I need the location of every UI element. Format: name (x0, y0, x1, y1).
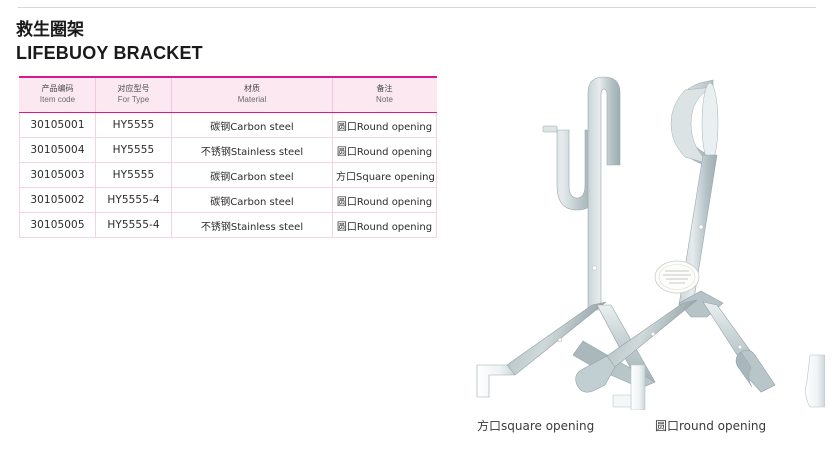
cell-note: 方口Square opening (333, 163, 437, 188)
cell-note: 圆口Round opening (333, 188, 437, 213)
cell-item-code: 30105001 (20, 113, 96, 138)
lifebuoy-bracket-illustration (455, 55, 825, 410)
table-row: 30105005 HY5555-4 不锈钢Stainless steel 圆口R… (20, 213, 437, 238)
table-header: 产品编码 Item code 对应型号 For Type 材质 Material… (20, 77, 437, 113)
cell-item-code: 30105004 (20, 138, 96, 163)
cell-material: 不锈钢Stainless steel (172, 213, 333, 238)
cell-note: 圆口Round opening (333, 113, 437, 138)
column-header-material: 材质 Material (172, 77, 333, 113)
cell-material: 碳钢Carbon steel (172, 163, 333, 188)
column-header-item-code-cn: 产品编码 (22, 84, 93, 94)
table-header-row: 产品编码 Item code 对应型号 For Type 材质 Material… (20, 77, 437, 113)
table-row: 30105004 HY5555 不锈钢Stainless steel 圆口Rou… (20, 138, 437, 163)
column-header-note-cn: 备注 (335, 84, 434, 94)
column-header-note: 备注 Note (333, 77, 437, 113)
cell-for-type: HY5555-4 (96, 213, 172, 238)
caption-round-opening: 圆口round opening (655, 417, 766, 434)
cell-for-type: HY5555 (96, 138, 172, 163)
top-divider (18, 7, 816, 8)
specification-table: 产品编码 Item code 对应型号 For Type 材质 Material… (19, 76, 437, 238)
square-opening-spine (588, 77, 620, 310)
cell-material: 不锈钢Stainless steel (172, 138, 333, 163)
cell-item-code: 30105005 (20, 213, 96, 238)
column-header-item-code: 产品编码 Item code (20, 77, 96, 113)
caption-square-opening: 方口square opening (477, 417, 594, 434)
page-title-english: LIFEBUOY BRACKET (16, 42, 416, 64)
product-label-sticker (655, 261, 699, 293)
cell-for-type: HY5555 (96, 113, 172, 138)
page-title: 救生圈架 LIFEBUOY BRACKET (16, 20, 416, 64)
column-header-material-cn: 材质 (174, 84, 330, 94)
round-opening-catch (806, 355, 825, 407)
cell-note: 圆口Round opening (333, 213, 437, 238)
cell-item-code: 30105003 (20, 163, 96, 188)
cell-material: 碳钢Carbon steel (172, 113, 333, 138)
table-row: 30105003 HY5555 碳钢Carbon steel 方口Square … (20, 163, 437, 188)
cell-for-type: HY5555 (96, 163, 172, 188)
column-header-material-en: Material (174, 94, 330, 105)
cell-note: 圆口Round opening (333, 138, 437, 163)
cell-material: 碳钢Carbon steel (172, 188, 333, 213)
page-title-chinese: 救生圈架 (16, 20, 416, 40)
round-opening-right-arm (703, 302, 775, 392)
column-header-for-type: 对应型号 For Type (96, 77, 172, 113)
table-row: 30105002 HY5555-4 碳钢Carbon steel 圆口Round… (20, 188, 437, 213)
round-opening-loop (671, 80, 718, 167)
cell-for-type: HY5555-4 (96, 188, 172, 213)
product-photo (455, 55, 825, 410)
table-row: 30105001 HY5555 碳钢Carbon steel 圆口Round o… (20, 113, 437, 138)
column-header-for-type-en: For Type (98, 94, 169, 105)
column-header-note-en: Note (335, 94, 434, 105)
column-header-item-code-en: Item code (22, 94, 93, 105)
column-header-for-type-cn: 对应型号 (98, 84, 169, 94)
cell-item-code: 30105002 (20, 188, 96, 213)
table-body: 30105001 HY5555 碳钢Carbon steel 圆口Round o… (20, 113, 437, 238)
